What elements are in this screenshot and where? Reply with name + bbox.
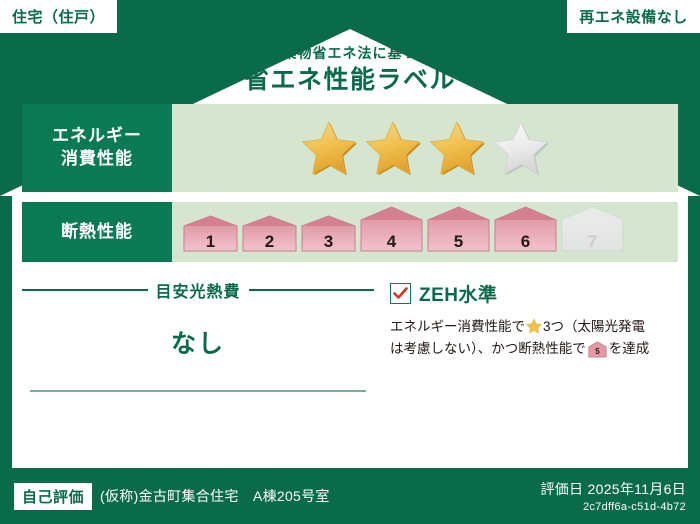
rule-left	[22, 289, 148, 291]
insulation-level-6: 6	[493, 206, 558, 258]
renewable-energy-tag-label: 再エネ設備なし	[579, 6, 688, 27]
energy-performance-label-line1: エネルギー	[52, 125, 142, 148]
utility-cost-value: なし	[22, 324, 374, 360]
energy-performance-row: エネルギー 消費性能	[22, 104, 678, 192]
star-icon	[526, 318, 542, 334]
star-rating	[300, 120, 550, 176]
inline-house-level: 5	[595, 348, 600, 357]
star-icon-filled	[364, 120, 422, 176]
building-name: (仮称)金古町集合住宅 A棟205号室	[100, 486, 330, 506]
insulation-performance-label-cell: 断熱性能	[22, 202, 172, 262]
zeh-block: ZEH水準 エネルギー消費性能で3つ（太陽光発電は考慮しない）、かつ断熱性能で5…	[374, 272, 678, 366]
insulation-performance-label-line1: 断熱性能	[61, 221, 133, 244]
insulation-level-7: 7	[560, 206, 625, 258]
energy-performance-rating	[172, 104, 678, 192]
zeh-heading: ZEH水準	[390, 280, 678, 307]
insulation-level-4: 4	[359, 206, 424, 258]
insulation-level-number: 3	[300, 232, 357, 252]
footer-left: 自己評価 (仮称)金古町集合住宅 A棟205号室	[14, 483, 330, 510]
category-tag-dwelling: 住宅（住戸）	[0, 0, 117, 33]
label-footer: 自己評価 (仮称)金古町集合住宅 A棟205号室 評価日 2025年11月6日 …	[0, 468, 700, 524]
page-subtitle: 建築物省エネ法に基づく	[0, 44, 700, 62]
zeh-checkbox[interactable]	[390, 283, 411, 304]
insulation-level-number: 4	[359, 232, 424, 252]
page-title: 省エネ性能ラベル	[0, 64, 700, 98]
star-icon-filled	[428, 120, 486, 176]
insulation-level-number: 7	[560, 232, 625, 252]
utility-cost-block: 目安光熱費 なし	[22, 272, 374, 366]
zeh-desc-part1: エネルギー消費性能で	[390, 319, 525, 334]
star-icon-filled	[300, 120, 358, 176]
energy-performance-label: 住宅（住戸） 再エネ設備なし 建築物省エネ法に基づく 省エネ性能ラベル エネルギ…	[0, 0, 700, 524]
insulation-level-number: 5	[426, 232, 491, 252]
insulation-level-5: 5	[426, 206, 491, 258]
renewable-energy-tag: 再エネ設備なし	[567, 0, 700, 33]
page-title-block: 建築物省エネ法に基づく 省エネ性能ラベル	[0, 44, 700, 98]
category-tag-dwelling-label: 住宅（住戸）	[12, 6, 105, 27]
insulation-level-2: 2	[241, 215, 298, 258]
star-icon-empty	[492, 120, 550, 176]
rule-right	[249, 289, 375, 291]
house-icon: 5	[588, 341, 607, 358]
zeh-description: エネルギー消費性能で3つ（太陽光発電は考慮しない）、かつ断熱性能で5を達成	[390, 316, 678, 366]
evaluation-id: 2c7dff6a-c51d-4b72	[540, 501, 686, 513]
utility-cost-divider	[30, 390, 366, 392]
insulation-performance-rating: 1234567	[172, 202, 678, 262]
zeh-desc-part3: を達成	[609, 341, 650, 356]
evaluation-date: 評価日 2025年11月6日	[540, 479, 686, 499]
insulation-level-number: 6	[493, 232, 558, 252]
utility-cost-heading: 目安光熱費	[22, 278, 374, 302]
insulation-performance-row: 断熱性能 1234567	[22, 202, 678, 262]
inline-house-badge: 5	[588, 346, 607, 361]
footer-right: 評価日 2025年11月6日 2c7dff6a-c51d-4b72	[540, 479, 686, 513]
energy-performance-label-cell: エネルギー 消費性能	[22, 104, 172, 192]
label-content: エネルギー 消費性能 断熱性能 1234567 目安光熱費	[22, 104, 678, 366]
self-evaluation-badge: 自己評価	[14, 483, 92, 510]
lower-section: 目安光熱費 なし ZEH水準 エネルギー消費性能で3つ（太陽光発電は考慮しな	[22, 272, 678, 366]
insulation-level-3: 3	[300, 215, 357, 258]
insulation-level-number: 1	[182, 232, 239, 252]
insulation-level-scale: 1234567	[176, 206, 625, 258]
insulation-level-number: 2	[241, 232, 298, 252]
utility-cost-title: 目安光熱費	[156, 278, 241, 302]
zeh-desc-stars: 3つ（太陽光発電	[543, 319, 645, 334]
insulation-level-1: 1	[182, 215, 239, 258]
energy-performance-label-line2: 消費性能	[61, 148, 133, 171]
check-icon	[393, 287, 408, 300]
zeh-desc-part2: は考慮しない）、かつ断熱性能で	[390, 341, 586, 356]
zeh-title: ZEH水準	[419, 280, 498, 307]
